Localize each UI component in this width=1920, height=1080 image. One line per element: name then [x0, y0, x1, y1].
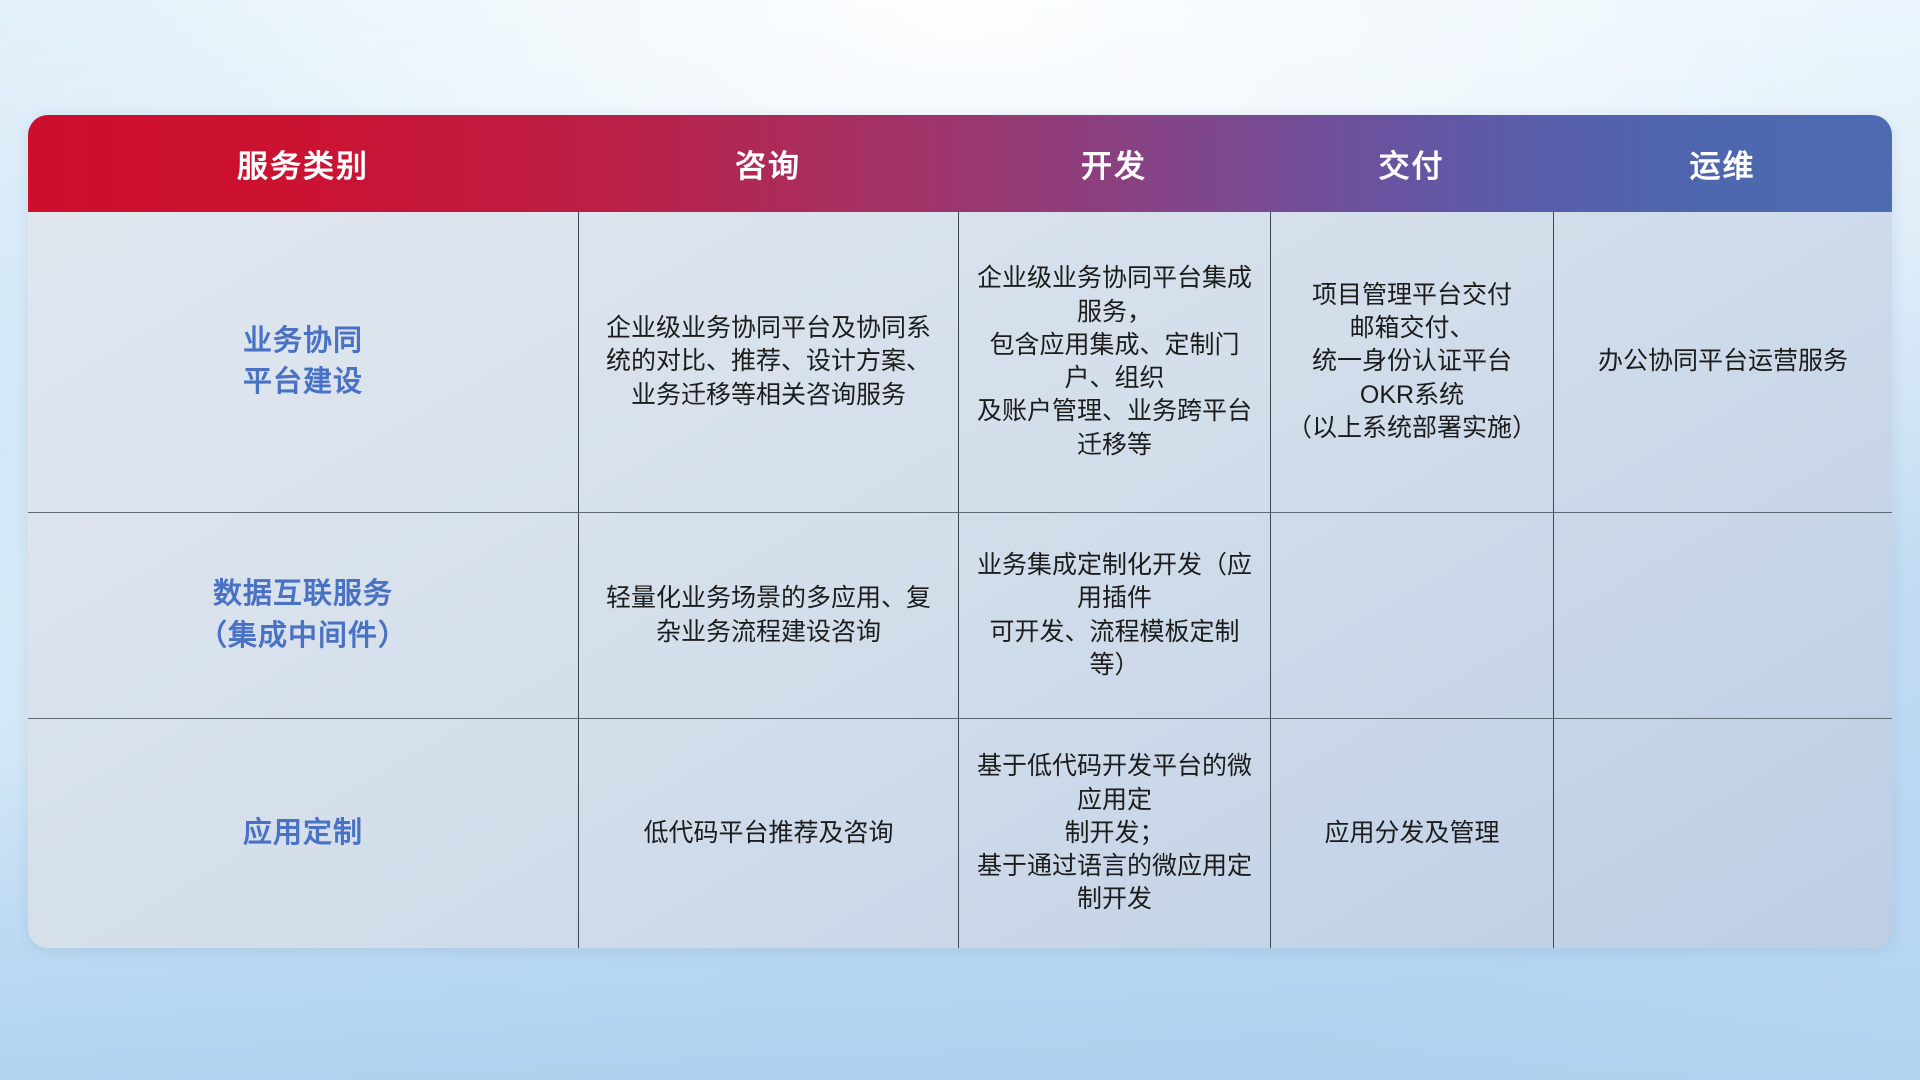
table-header-row: 服务类别 咨询 开发 交付 运维 — [28, 115, 1892, 212]
service-matrix-table: 服务类别 咨询 开发 交付 运维 业务协同 平台建设 企业级业务协同平台及协同系… — [28, 115, 1892, 948]
cell-category: 数据互联服务 （集成中间件） — [28, 513, 578, 718]
table-row: 业务协同 平台建设 企业级业务协同平台及协同系 统的对比、推荐、设计方案、 业务… — [28, 212, 1892, 512]
cell-category: 应用定制 — [28, 719, 578, 948]
table-row: 数据互联服务 （集成中间件） 轻量化业务场景的多应用、复 杂业务流程建设咨询 业… — [28, 512, 1892, 718]
cell-delivery: 项目管理平台交付 邮箱交付、 统一身份认证平台 OKR系统 （以上系统部署实施） — [1270, 212, 1553, 512]
column-header-development: 开发 — [958, 141, 1270, 186]
cell-consulting: 企业级业务协同平台及协同系 统的对比、推荐、设计方案、 业务迁移等相关咨询服务 — [578, 212, 958, 512]
column-header-consulting: 咨询 — [578, 141, 958, 186]
column-header-operations: 运维 — [1553, 141, 1892, 186]
cell-category: 业务协同 平台建设 — [28, 212, 578, 512]
cell-development: 基于低代码开发平台的微应用定 制开发； 基于通过语言的微应用定制开发 — [958, 719, 1270, 948]
column-header-delivery: 交付 — [1270, 141, 1553, 186]
cell-operations: 办公协同平台运营服务 — [1553, 212, 1892, 512]
cell-consulting: 轻量化业务场景的多应用、复 杂业务流程建设咨询 — [578, 513, 958, 718]
cell-development: 业务集成定制化开发（应用插件 可开发、流程模板定制等） — [958, 513, 1270, 718]
table-body: 业务协同 平台建设 企业级业务协同平台及协同系 统的对比、推荐、设计方案、 业务… — [28, 212, 1892, 948]
cell-development: 企业级业务协同平台集成服务， 包含应用集成、定制门户、组织 及账户管理、业务跨平… — [958, 212, 1270, 512]
cell-delivery — [1270, 513, 1553, 718]
column-header-category: 服务类别 — [28, 141, 578, 186]
cell-operations — [1553, 719, 1892, 948]
cell-consulting: 低代码平台推荐及咨询 — [578, 719, 958, 948]
cell-operations — [1553, 513, 1892, 718]
cell-delivery: 应用分发及管理 — [1270, 719, 1553, 948]
table-row: 应用定制 低代码平台推荐及咨询 基于低代码开发平台的微应用定 制开发； 基于通过… — [28, 718, 1892, 948]
